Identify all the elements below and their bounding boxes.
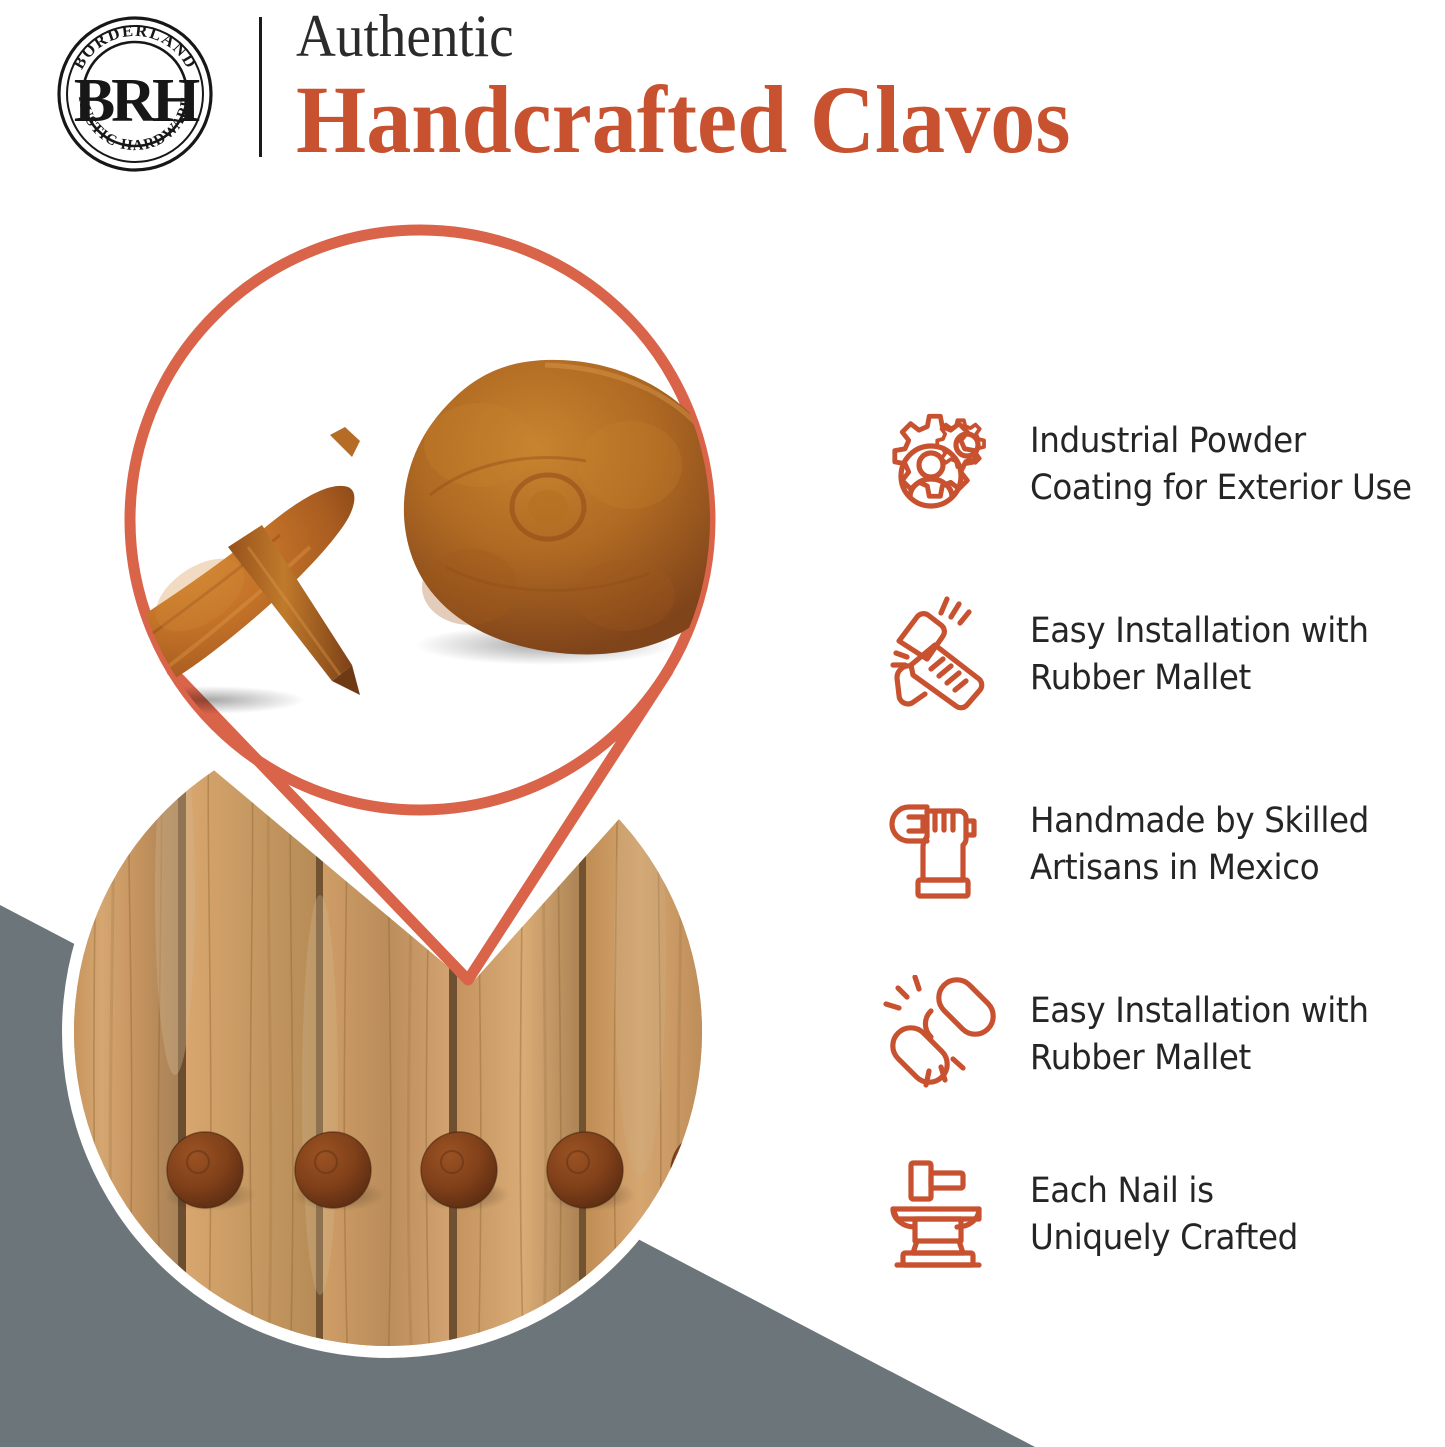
gear-person-icon <box>855 390 1030 540</box>
feature-item: Easy Installation with Rubber Mallet <box>855 560 1445 750</box>
title-line-authentic: Authentic <box>296 4 1336 68</box>
hand-mallet-icon <box>855 580 1030 730</box>
svg-text:BRH: BRH <box>74 67 200 135</box>
feature-label-line2: Coating for Exterior Use <box>1030 465 1416 512</box>
svg-text:BORDERLAND: BORDERLAND <box>69 21 202 73</box>
product-visual-svg <box>0 195 830 1447</box>
feature-label-line2: Rubber Mallet <box>1030 1035 1416 1082</box>
page-title: Authentic Handcrafted Clavos <box>296 4 1426 170</box>
feature-label-line1: Each Nail is <box>1030 1168 1416 1215</box>
feature-label: Easy Installation with Rubber Mallet <box>1030 988 1416 1082</box>
borderland-rustic-hardware-logo: BORDERLAND RUSTIC HARDWARE BRH <box>55 14 215 174</box>
feature-label-line2: Artisans in Mexico <box>1030 845 1416 892</box>
feature-list: Industrial Powder Coating for Exterior U… <box>855 370 1445 1300</box>
chain-link-icon <box>855 960 1030 1110</box>
feature-label: Industrial Powder Coating for Exterior U… <box>1030 418 1416 512</box>
feature-label: Easy Installation with Rubber Mallet <box>1030 608 1416 702</box>
infographic-page: BORDERLAND RUSTIC HARDWARE BRH Authentic… <box>0 0 1445 1447</box>
anvil-hammer-icon <box>855 1140 1030 1290</box>
feature-item: Each Nail is Uniquely Crafted <box>855 1130 1445 1300</box>
product-visual-group <box>0 195 830 1447</box>
feature-label-line2: Rubber Mallet <box>1030 655 1416 702</box>
feature-item: Industrial Powder Coating for Exterior U… <box>855 370 1445 560</box>
feature-label-line1: Industrial Powder <box>1030 418 1416 465</box>
feature-label-line1: Easy Installation with <box>1030 608 1416 655</box>
feature-label: Handmade by Skilled Artisans in Mexico <box>1030 798 1416 892</box>
feature-item: Handmade by Skilled Artisans in Mexico <box>855 750 1445 940</box>
header: BORDERLAND RUSTIC HARDWARE BRH Authentic… <box>0 0 1445 195</box>
header-divider <box>259 17 262 157</box>
feature-label-line2: Uniquely Crafted <box>1030 1215 1416 1262</box>
fist-wrench-icon <box>855 770 1030 920</box>
feature-item: Easy Installation with Rubber Mallet <box>855 940 1445 1130</box>
title-line-handcrafted-clavos: Handcrafted Clavos <box>296 70 1358 170</box>
feature-label-line1: Easy Installation with <box>1030 988 1416 1035</box>
feature-label: Each Nail is Uniquely Crafted <box>1030 1168 1416 1262</box>
feature-label-line1: Handmade by Skilled <box>1030 798 1416 845</box>
